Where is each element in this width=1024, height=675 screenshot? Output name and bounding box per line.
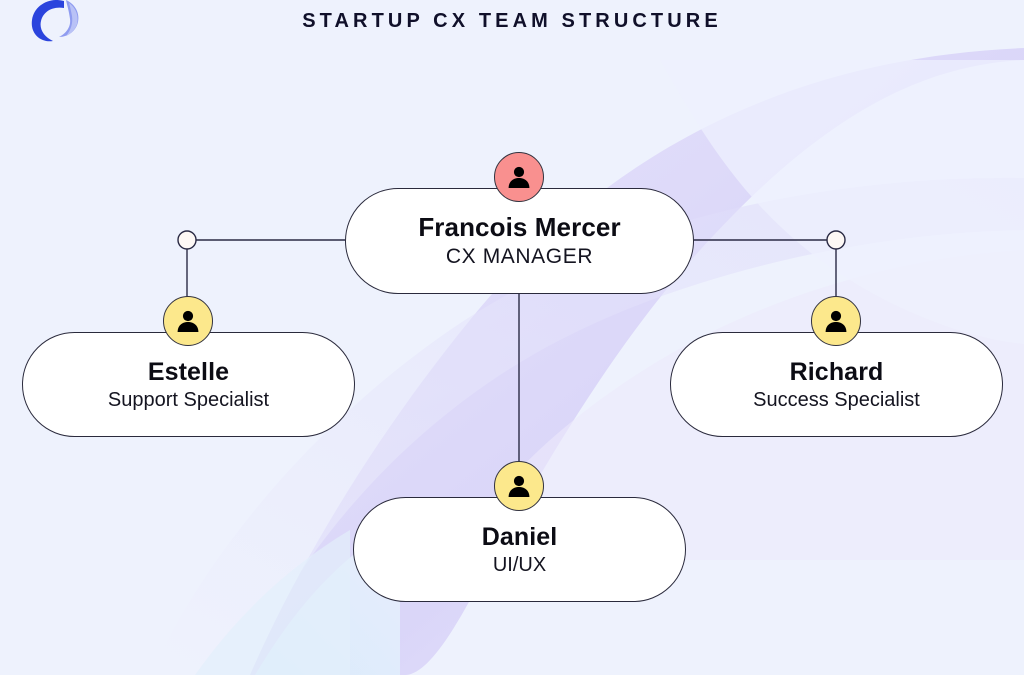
junction-dot-left [178, 231, 196, 249]
node-role: CX MANAGER [446, 244, 593, 269]
avatar-daniel[interactable] [494, 461, 544, 511]
junction-dot-right [827, 231, 845, 249]
node-name: Daniel [482, 523, 558, 551]
avatar-estelle[interactable] [163, 296, 213, 346]
node-name: Francois Mercer [418, 213, 620, 242]
person-icon [505, 472, 533, 500]
person-icon [174, 307, 202, 335]
org-node-estelle[interactable]: Estelle Support Specialist [22, 332, 355, 437]
node-role: Success Specialist [753, 388, 920, 412]
person-icon [822, 307, 850, 335]
node-role: UI/UX [493, 553, 546, 577]
node-name: Estelle [148, 358, 229, 386]
org-node-richard[interactable]: Richard Success Specialist [670, 332, 1003, 437]
node-name: Richard [790, 358, 884, 386]
avatar-francois-mercer[interactable] [494, 152, 544, 202]
node-role: Support Specialist [108, 388, 269, 412]
person-icon [505, 163, 533, 191]
org-node-francois-mercer[interactable]: Francois Mercer CX MANAGER [345, 188, 694, 294]
org-chart-canvas: STARTUP CX TEAM STRUCTURE Francois Merce… [0, 0, 1024, 675]
avatar-richard[interactable] [811, 296, 861, 346]
org-node-daniel[interactable]: Daniel UI/UX [353, 497, 686, 602]
